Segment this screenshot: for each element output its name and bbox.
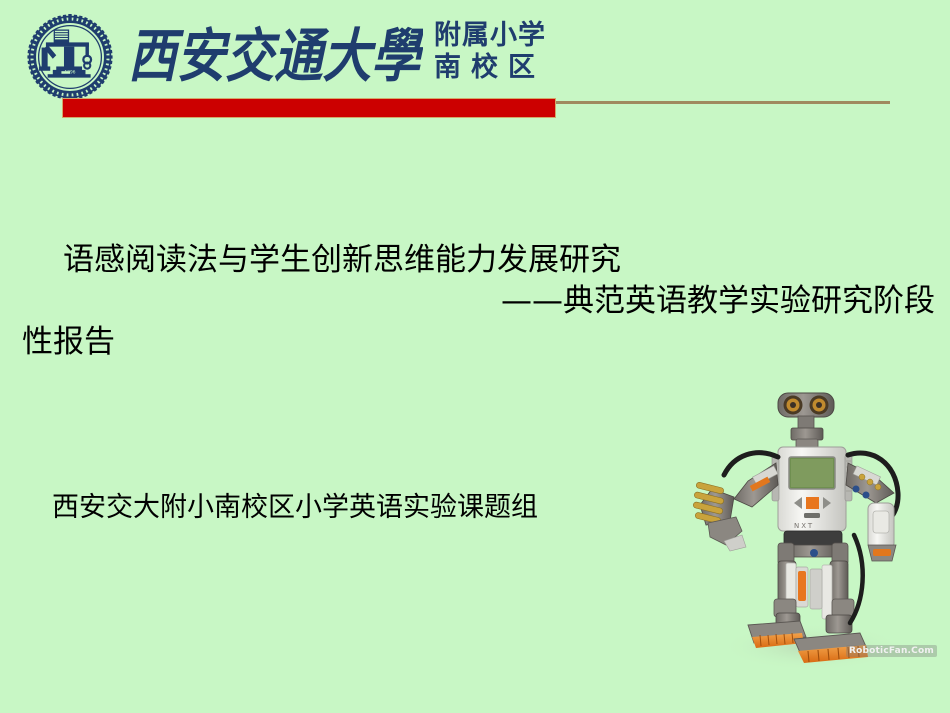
title-line-3: 性报告 bbox=[0, 322, 950, 363]
university-name-text: 西安交通大學 bbox=[128, 22, 423, 90]
presentation-slide: 1896 西安交通大學 附属小学 南校区 语感阅读法与学生创新思维能力发展研究 … bbox=[0, 0, 950, 713]
university-name-calligraphy: 西安交通大學 bbox=[128, 16, 423, 94]
affiliation-line-2: 南校区 bbox=[434, 52, 546, 84]
university-emblem-icon: 1896 bbox=[27, 14, 113, 100]
svg-text:1896: 1896 bbox=[65, 69, 76, 75]
title-line-2: ——典范英语教学实验研究阶段 bbox=[0, 281, 950, 322]
slide-subtitle-team: 西安交大附小南校区小学英语实验课题组 bbox=[52, 485, 538, 524]
slide-title: 语感阅读法与学生创新思维能力发展研究 ——典范英语教学实验研究阶段 性报告 bbox=[0, 240, 950, 363]
slide-header-banner: 1896 西安交通大學 附属小学 南校区 bbox=[0, 0, 950, 130]
image-watermark: RoboticFan.Com bbox=[846, 645, 937, 657]
title-line-1: 语感阅读法与学生创新思维能力发展研究 bbox=[0, 240, 950, 281]
affiliation-block: 附属小学 南校区 bbox=[434, 20, 546, 84]
lego-robot-image: NXT bbox=[690, 385, 940, 670]
affiliation-line-1: 附属小学 bbox=[434, 20, 546, 52]
header-red-bar bbox=[62, 98, 556, 118]
svg-text:NXT: NXT bbox=[794, 522, 814, 530]
